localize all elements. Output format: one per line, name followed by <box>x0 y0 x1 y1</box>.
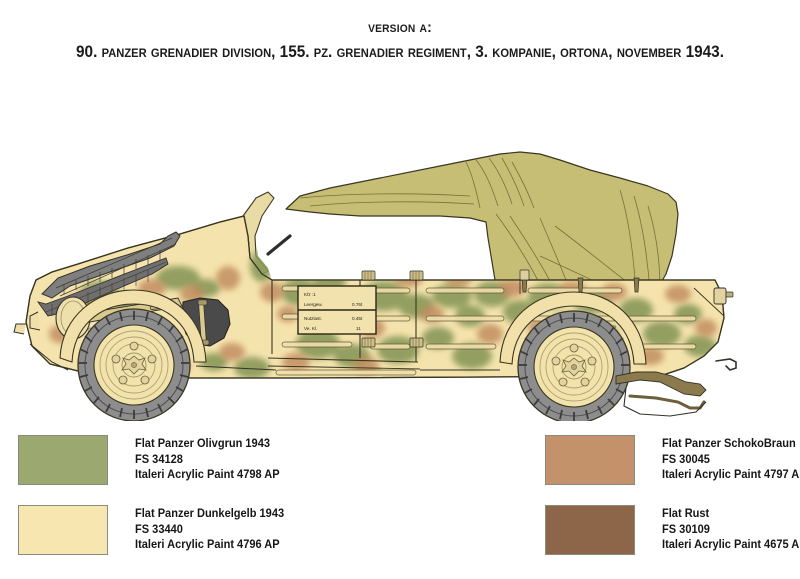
paint-product-code: Italeri Acrylic Paint 4798 AP <box>135 468 280 484</box>
sheet-header: Version A: 90. Panzer Grenadier Division… <box>0 0 800 62</box>
legend-item: Flat Panzer SchokoBraun FS 30045 Italeri… <box>545 435 800 485</box>
color-swatch <box>18 505 108 555</box>
paint-name: Flat Panzer Olivgrun 1943 <box>135 437 280 453</box>
paint-product-code: Italeri Acrylic Paint 4675 AP <box>662 538 800 554</box>
data-plate: Kfz :1 Leergew. 0.76t Nutzlast. 0.45t Ve… <box>298 286 376 334</box>
plate-row2-value: 0.76t <box>352 302 363 307</box>
legend-text-block: Flat Panzer Olivgrun 1943 FS 34128 Itale… <box>135 435 280 484</box>
plate-row3-label: Nutzlast. <box>304 316 322 321</box>
paint-fs-code: FS 34128 <box>135 453 280 469</box>
plate-row2-label: Leergew. <box>304 302 323 307</box>
legend-text-block: Flat Panzer Dunkelgelb 1943 FS 33440 Ita… <box>135 505 284 554</box>
legend-column-right: Flat Panzer SchokoBraun FS 30045 Italeri… <box>545 425 800 579</box>
legend-item: Flat Panzer Olivgrun 1943 FS 34128 Itale… <box>18 435 286 485</box>
color-swatch <box>545 505 635 555</box>
legend-text-block: Flat Rust FS 30109 Italeri Acrylic Paint… <box>662 505 800 554</box>
version-title: Version A: <box>28 19 772 36</box>
legend-item: Flat Panzer Dunkelgelb 1943 FS 33440 Ita… <box>18 505 290 555</box>
paint-fs-code: FS 33440 <box>135 523 284 539</box>
legend-item: Flat Rust FS 30109 Italeri Acrylic Paint… <box>545 505 800 555</box>
profile-sheet: Version A: 90. Panzer Grenadier Division… <box>0 0 800 579</box>
rear-wheel <box>518 311 630 421</box>
plate-row4-value: 11 <box>356 326 361 331</box>
paint-product-code: Italeri Acrylic Paint 4796 AP <box>135 538 284 554</box>
vehicle-illustration: Kfz :1 Leergew. 0.76t Nutzlast. 0.45t Ve… <box>0 66 800 421</box>
paint-fs-code: FS 30045 <box>662 453 800 469</box>
legend-column-left: Flat Panzer Olivgrun 1943 FS 34128 Itale… <box>18 425 418 579</box>
antenna <box>268 236 290 254</box>
legend-text-block: Flat Panzer SchokoBraun FS 30045 Italeri… <box>662 435 800 484</box>
paint-name: Flat Rust <box>662 507 800 523</box>
paint-product-code: Italeri Acrylic Paint 4797 AP <box>662 468 800 484</box>
plate-row4-label: Ve. Kl. <box>304 326 317 331</box>
paint-legend: Flat Panzer Olivgrun 1943 FS 34128 Itale… <box>0 425 800 579</box>
color-swatch <box>18 435 108 485</box>
plate-row3-value: 0.45t <box>352 316 363 321</box>
paint-name: Flat Panzer SchokoBraun <box>662 437 800 453</box>
unit-subtitle: 90. Panzer Grenadier Division, 155. Pz. … <box>28 43 772 62</box>
color-swatch <box>545 435 635 485</box>
plate-row1-label: Kfz :1 <box>304 292 316 297</box>
front-wheel <box>78 309 190 421</box>
paint-name: Flat Panzer Dunkelgelb 1943 <box>135 507 284 523</box>
paint-fs-code: FS 30109 <box>662 523 800 539</box>
